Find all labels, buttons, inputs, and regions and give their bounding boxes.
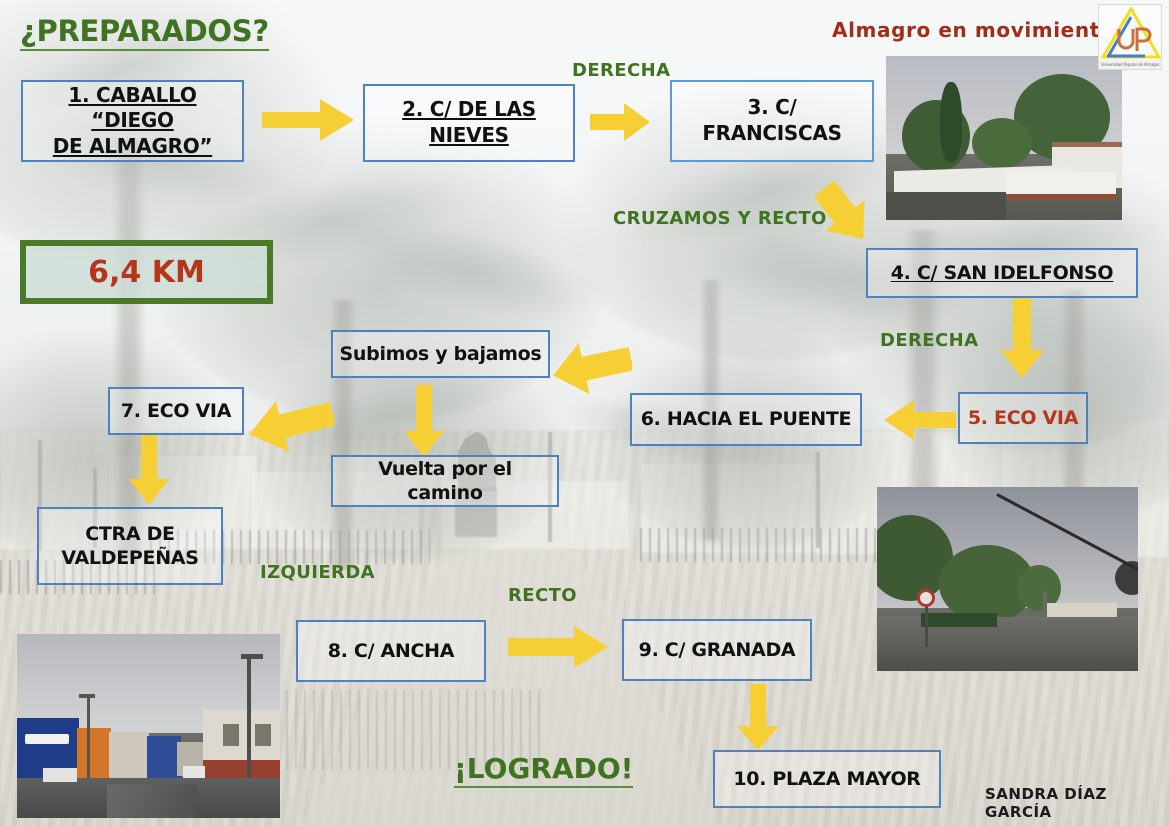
flow-node-ctra-line1: CTRA DE [85,523,175,545]
flow-node-ctra-line2: VALDEPEÑAS [61,547,198,569]
arrow-n4-to-n5 [1000,298,1044,378]
flow-node-1-line1: 1. CABALLO “DIEGO [68,83,196,133]
flow-node-3-line1: 3. C/ [748,95,797,119]
arrow-n5-to-n6 [884,400,956,440]
hint-derecha-2: DERECHA [880,330,978,351]
arrow-vuelta-to-n7 [248,396,334,452]
flow-node-7-label: 7. ECO VIA [121,399,231,423]
photo-plaza-arboles [886,56,1122,220]
flow-node-ctra-de-valdepenas[interactable]: CTRA DE VALDEPEÑAS [37,507,223,585]
distance-value: 6,4 KM [88,255,205,290]
author-signature: SANDRA DÍAZ GARCÍA [985,785,1169,821]
arrow-n1-to-n2 [262,99,354,141]
goal-label: ¡LOGRADO! [454,752,633,788]
arrow-n6-to-subimos [552,338,632,396]
flow-node-2[interactable]: 2. C/ DE LAS NIEVES [363,84,575,162]
up-triangle-icon [1099,5,1162,63]
flow-node-10[interactable]: 10. PLAZA MAYOR [713,750,941,808]
flow-node-2-line2: NIEVES [429,123,509,147]
arrow-n2-to-n3 [590,103,650,141]
hint-recto: RECTO [508,585,577,606]
flow-node-subimos-y-bajamos[interactable]: Subimos y bajamos [331,330,550,378]
flow-node-subimos-label: Subimos y bajamos [340,342,542,366]
flow-node-1[interactable]: 1. CABALLO “DIEGO DE ALMAGRO” [21,80,244,162]
flow-node-3[interactable]: 3. C/ FRANCISCAS [670,80,874,162]
flow-node-10-label: 10. PLAZA MAYOR [733,767,920,791]
hint-cruzamos-y-recto: CRUZAMOS Y RECTO [613,208,827,229]
flow-node-4-label: 4. C/ SAN IDELFONSO [891,261,1114,285]
flow-node-1-line2: DE ALMAGRO” [53,134,213,158]
hint-izquierda: IZQUIERDA [260,562,375,583]
arrow-n7-to-ctra [129,435,169,505]
flow-node-2-line1: 2. C/ DE LAS [402,97,536,121]
photo-calle-naves [17,634,280,818]
arrow-subimos-to-vuelta [404,385,444,457]
page-title: ¿PREPARADOS? [20,14,269,51]
distance-badge: 6,4 KM [20,240,273,304]
flow-node-3-line2: FRANCISCAS [702,121,841,145]
flow-node-9-label: 9. C/ GRANADA [639,638,796,662]
flow-node-6-label: 6. HACIA EL PUENTE [641,407,851,431]
flow-node-5-label: 5. ECO VIA [968,406,1078,430]
hint-derecha-1: DERECHA [572,60,670,81]
flow-node-4[interactable]: 4. C/ SAN IDELFONSO [866,248,1138,298]
arrow-n8-to-n9 [508,626,608,668]
organization-logo: Universidad Popular de Almagro [1098,4,1162,70]
program-title: Almagro en movimiento [832,18,1114,42]
logo-caption: Universidad Popular de Almagro [1099,60,1161,69]
flow-node-vuelta-por-el-camino[interactable]: Vuelta por el camino [331,455,559,507]
slide-canvas: 1. CABALLO “DIEGO DE ALMAGRO” 2. C/ DE L… [0,0,1169,826]
flow-node-8[interactable]: 8. C/ ANCHA [296,620,486,682]
flow-node-9[interactable]: 9. C/ GRANADA [622,619,812,681]
flow-node-7[interactable]: 7. ECO VIA [108,387,244,435]
flow-node-6[interactable]: 6. HACIA EL PUENTE [630,393,862,446]
flow-node-8-label: 8. C/ ANCHA [328,639,454,663]
photo-carretera [877,487,1138,671]
arrow-n9-to-n10 [737,684,779,750]
flow-node-5[interactable]: 5. ECO VIA [958,392,1088,444]
flow-node-vuelta-label: Vuelta por el camino [339,457,551,506]
